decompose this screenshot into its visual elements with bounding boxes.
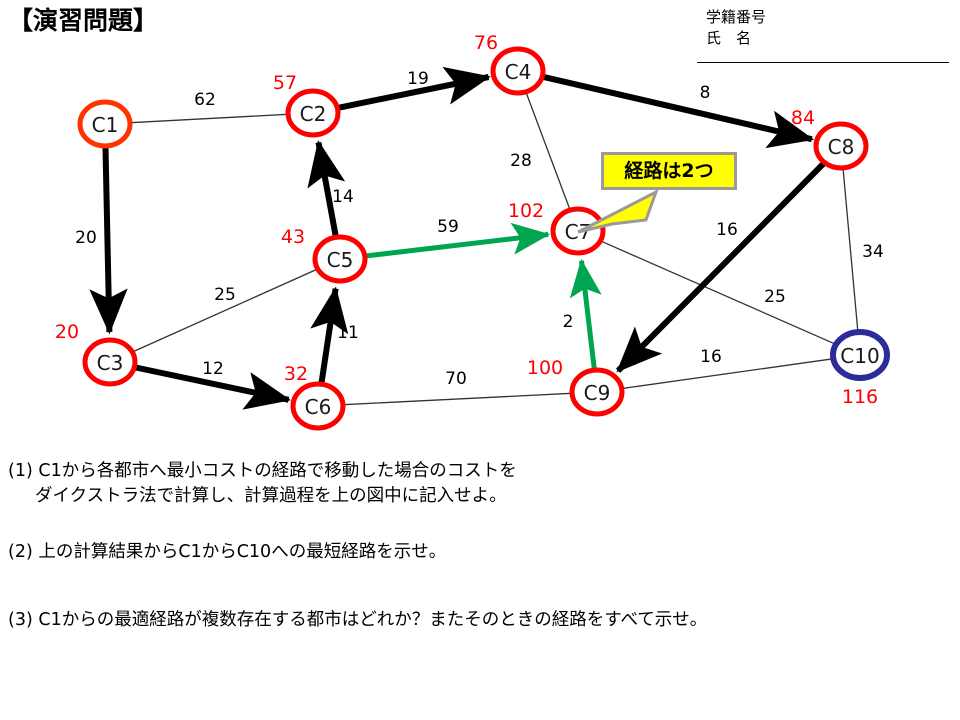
node-label-c1: C1 (92, 113, 119, 137)
edge-weight-c3-c6: 12 (202, 359, 224, 379)
edge-c5-c7 (364, 235, 548, 257)
node-label-c8: C8 (828, 135, 855, 159)
node-c1[interactable]: C1 (80, 102, 130, 146)
edge-weight-c2-c4: 19 (407, 69, 429, 89)
edge-c9-c10 (620, 358, 837, 389)
edge-c8-c10 (843, 169, 858, 332)
node-label-c5: C5 (327, 248, 354, 272)
edge-weight-c5-c2: 14 (332, 187, 354, 207)
edge-weight-c1-c3: 20 (75, 228, 97, 248)
node-cost-c10: 116 (842, 386, 878, 408)
question-1-line-2: ダイクストラ法で計算し、計算過程を上の図中に記入せよ。 (35, 484, 507, 509)
node-cost-c2: 57 (273, 72, 297, 94)
node-label-c3: C3 (97, 351, 124, 375)
node-cost-c9: 100 (527, 357, 563, 379)
edge-c4-c8 (541, 76, 811, 139)
edge-c7-c10 (599, 240, 839, 345)
node-label-c2: C2 (300, 102, 327, 126)
node-cost-c6: 32 (284, 363, 308, 385)
edge-weight-c8-c9: 16 (716, 220, 738, 240)
node-c2[interactable]: C2 (288, 91, 338, 135)
edge-c6-c5 (322, 289, 336, 383)
node-c6[interactable]: C6 (293, 384, 343, 428)
node-c8[interactable]: C8 (816, 124, 866, 168)
node-cost-c7: 102 (508, 200, 544, 222)
edge-c3-c5 (131, 268, 319, 352)
slide-page: 【演習問題】 学籍番号 氏 名 C1C2C3C4C5C6C7C8C9C10 62… (0, 0, 960, 720)
node-c4[interactable]: C4 (493, 49, 543, 93)
node-c3[interactable]: C3 (85, 340, 135, 384)
node-label-c4: C4 (505, 60, 532, 84)
edge-weight-c9-c7: 2 (563, 312, 574, 332)
node-label-c9: C9 (584, 381, 611, 405)
edge-c1-c3 (106, 148, 110, 332)
node-c5[interactable]: C5 (315, 237, 365, 281)
label-layer: 6220192512288145911702516342165720764332… (55, 32, 884, 408)
edge-weight-c3-c5: 25 (214, 285, 236, 305)
node-label-c6: C6 (305, 395, 332, 419)
edge-c1-c2 (128, 114, 290, 123)
edge-weight-c7-c10: 25 (764, 287, 786, 307)
edge-weight-c9-c10: 16 (700, 347, 722, 367)
node-cost-c8: 84 (791, 107, 815, 129)
question-3: (3) C1からの最適経路が複数存在する都市はどれか？またそのときの経路をすべて… (8, 608, 707, 633)
annotation-callout: 経路は2つ (601, 152, 737, 190)
edge-weight-c6-c5: 11 (337, 323, 359, 343)
node-c9[interactable]: C9 (572, 370, 622, 414)
edge-weight-c6-c9: 70 (445, 369, 467, 389)
callout-label: 経路は2つ (624, 162, 713, 181)
edge-c6-c9 (341, 393, 574, 405)
node-c7[interactable]: C7 (553, 209, 603, 253)
edge-weight-c4-c8: 8 (700, 83, 711, 103)
edge-weight-c8-c10: 34 (862, 242, 884, 262)
edge-weight-c1-c2: 62 (194, 90, 216, 110)
edge-c4-c7 (526, 93, 570, 210)
edge-c8-c9 (618, 163, 824, 371)
node-cost-c4: 76 (474, 32, 498, 54)
question-1-line-1: (1) C1から各都市へ最小コストの経路で移動した場合のコストを (8, 459, 517, 484)
edge-layer (106, 76, 858, 404)
dijkstra-graph: C1C2C3C4C5C6C7C8C9C10 622019251228814591… (0, 0, 960, 450)
node-label-c10: C10 (840, 344, 879, 368)
edge-weight-c4-c7: 28 (510, 151, 532, 171)
edge-c9-c7 (582, 261, 595, 368)
node-label-c7: C7 (565, 220, 592, 244)
question-2: (2) 上の計算結果からC1からC10への最短経路を示せ。 (8, 540, 446, 565)
node-cost-c3: 20 (55, 321, 79, 343)
edge-weight-c5-c7: 59 (437, 217, 459, 237)
node-c10[interactable]: C10 (833, 332, 887, 378)
node-cost-c5: 43 (281, 226, 305, 248)
